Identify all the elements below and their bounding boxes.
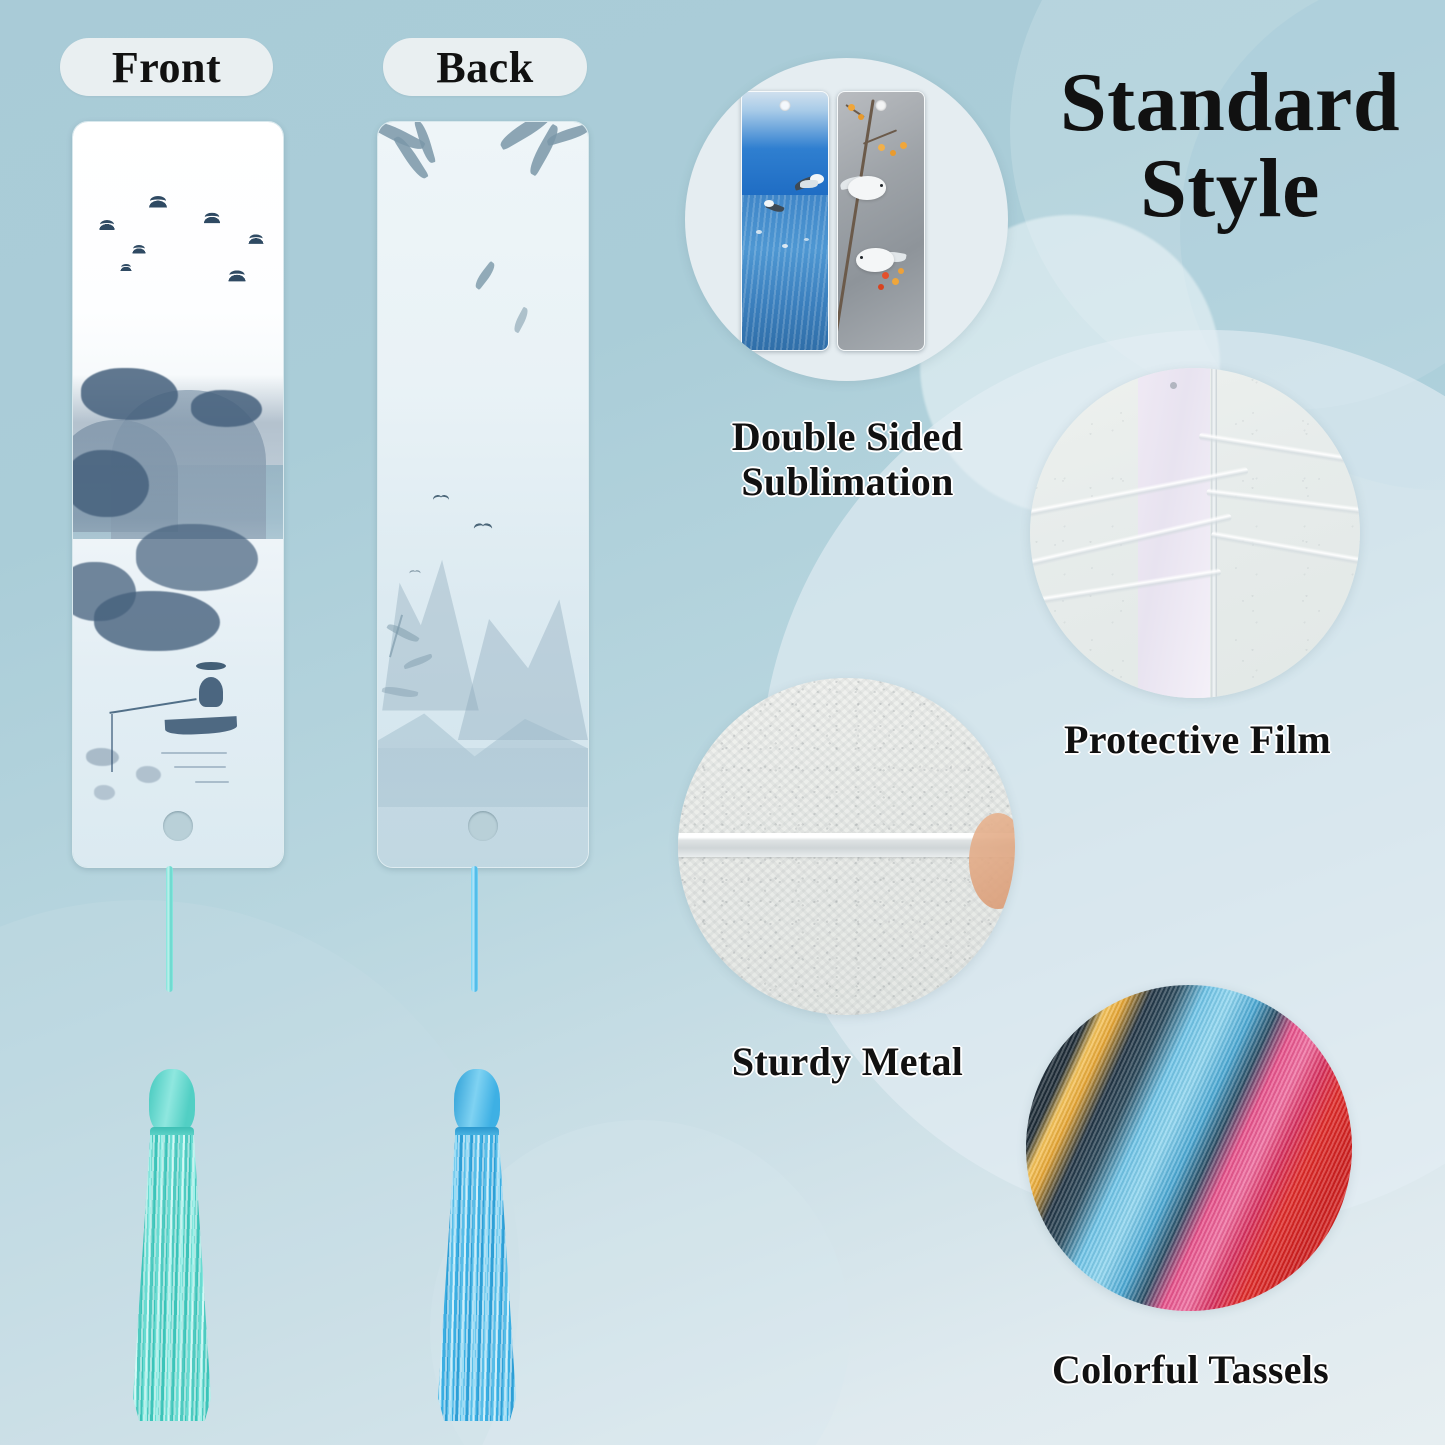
hole-icon	[468, 811, 498, 841]
feature-label-line-1: Double Sided	[660, 415, 1035, 460]
feature-label-double-sided-sublimation: Double Sided Sublimation	[660, 415, 1035, 505]
bookmark-front-artwork	[73, 122, 283, 867]
tassel-cord-right	[471, 866, 478, 992]
front-label-badge: Front	[60, 38, 273, 96]
tassel-icon	[132, 1069, 212, 1421]
bookmark-front	[72, 121, 284, 868]
feature-image-sturdy-metal	[678, 678, 1015, 1015]
bookmark-back-artwork	[378, 122, 588, 867]
title-line-2: Style	[1020, 146, 1440, 232]
feature-label-colorful-tassels: Colorful Tassels	[1018, 1348, 1363, 1393]
feature-image-protective-film	[1030, 368, 1360, 698]
back-label-text: Back	[436, 42, 533, 93]
hole-icon	[163, 811, 193, 841]
feature-image-colorful-tassels	[1026, 985, 1352, 1311]
feature-label-sturdy-metal: Sturdy Metal	[680, 1040, 1015, 1085]
feature-label-protective-film: Protective Film	[1015, 718, 1380, 763]
tassel-cord-left	[166, 866, 173, 992]
title-line-1: Standard	[1060, 56, 1400, 149]
sample-bookmark-ocean	[741, 91, 829, 351]
feature-image-double-sided-sublimation	[685, 58, 1008, 381]
front-label-text: Front	[112, 42, 221, 93]
bookmark-back	[377, 121, 589, 868]
feature-label-line-2: Sublimation	[660, 460, 1035, 505]
page-title: Standard Style	[1020, 60, 1440, 231]
tassel-icon	[437, 1069, 517, 1421]
back-label-badge: Back	[383, 38, 587, 96]
sample-bookmark-birds	[837, 91, 925, 351]
infographic-canvas: Standard Style Front Back	[0, 0, 1445, 1445]
